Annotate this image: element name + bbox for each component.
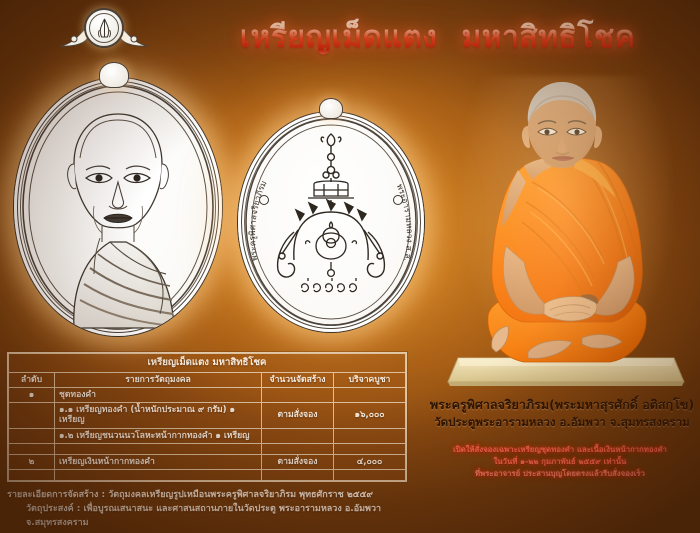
praying-hands-icon [96, 18, 113, 39]
table-row [9, 444, 406, 455]
svg-text:พระครูพิศาลจริยาภิรม วัดประตู: พระครูพิศาลจริยาภิรม วัดประตู [238, 112, 269, 262]
footer-details: รายละเอียดการจัดสร้าง : วัตถุมงคลเหรียญร… [0, 489, 430, 531]
cell-price: ๑๖,๐๐๐ [334, 403, 406, 429]
amulet-poster: เหรียญเม็ดแตงมหาสิทธิโชค [0, 0, 700, 533]
cell-qty: ตามสั่งจอง [262, 403, 334, 429]
header-item: รายการวัตถุมงคล [55, 372, 262, 387]
monk-name: พระครูพิศาลจริยาภิรม(พระมหาสุรศักดิ์ อติ… [424, 396, 700, 414]
cell-item: ๑.๑ เหรียญทองคำ (น้ำหนักประมาณ ๙ กรัม) ๑… [55, 403, 262, 429]
cell-item: ชุดทองคำ [55, 387, 262, 402]
monk-temple: วัดประตูพระอารามหลวง อ.อัมพวา จ.สุมทรสงค… [424, 414, 700, 430]
table-title-row: เหรียญเม็ดแตง มหาสิทธิโชค [9, 354, 406, 373]
table-row: ๑ ชุดทองคำ [9, 387, 406, 402]
coin-back-loop [319, 98, 343, 119]
amulet-price-table: เหรียญเม็ดแตง มหาสิทธิโชค ลำดับ รายการวั… [8, 353, 406, 481]
cell-price [334, 470, 406, 481]
cell-qty [262, 444, 334, 455]
notice-line-1: เปิดให้สั่งจองเฉพาะเหรียญชุดทองคำ และเนื… [420, 444, 700, 456]
coin-back: พระครูพิศาลจริยาภิรม วัดประตู พระอารามหล… [238, 112, 424, 332]
coin-front-loop [99, 62, 129, 88]
monk-name-block: พระครูพิศาลจริยาภิรม(พระมหาสุรศักดิ์ อติ… [424, 396, 700, 430]
monk-photo [432, 70, 700, 392]
cell-no [9, 428, 55, 443]
notice-line-3: ที่พระอาจารย์ ประสานบุญโดยตรงแล้วรีบสั่ง… [420, 468, 700, 480]
cell-price [334, 387, 406, 402]
price-table: เหรียญเม็ดแตง มหาสิทธิโชค ลำดับ รายการวั… [7, 352, 407, 482]
header-qty: จำนวนจัดสร้าง [262, 372, 334, 387]
cell-qty [262, 387, 334, 402]
cell-no [9, 444, 55, 455]
table-row [9, 470, 406, 481]
cell-no: ๑ [9, 387, 55, 402]
table-row: ๑.๑ เหรียญทองคำ (น้ำหนักประมาณ ๙ กรัม) ๑… [9, 403, 406, 429]
cell-price [334, 444, 406, 455]
order-notice: เปิดให้สั่งจองเฉพาะเหรียญชุดทองคำ และเนื… [420, 444, 700, 479]
table-header-row: ลำดับ รายการวัตถุมงคล จำนวนจัดสร้าง บริจ… [9, 372, 406, 387]
coin-front-portrait-drawing [14, 78, 222, 336]
table-title: เหรียญเม็ดแตง มหาสิทธิโชค [9, 354, 406, 373]
cell-item [55, 444, 262, 455]
coin-front [14, 78, 222, 336]
title-part2: มหาสิทธิโชค [461, 20, 635, 55]
table-row: ๒ เหรียญเงินหน้ากากทองคำ ตามสั่งจอง ๔,๐๐… [9, 455, 406, 470]
cell-item [55, 470, 262, 481]
footer-line-2: วัตถุประสงค์ : เพื่อบูรณเสนาสนะ และศาสนส… [0, 503, 430, 531]
cell-no [9, 470, 55, 481]
cell-no: ๒ [9, 455, 55, 470]
poster-title: เหรียญเม็ดแตงมหาสิทธิโชค [185, 14, 690, 61]
cell-item: เหรียญเงินหน้ากากทองคำ [55, 455, 262, 470]
header-no: ลำดับ [9, 372, 55, 387]
cell-price [334, 428, 406, 443]
coin-back-yantra-drawing: พระครูพิศาลจริยาภิรม วัดประตู พระอารามหล… [238, 112, 424, 332]
footer-line-1: รายละเอียดการจัดสร้าง : วัตถุมงคลเหรียญร… [0, 489, 430, 503]
cell-no [9, 403, 55, 429]
cell-price: ๔,๐๐๐ [334, 455, 406, 470]
header-price: บริจาคบูชา [334, 372, 406, 387]
monk-photo-glow [460, 76, 672, 376]
cell-qty [262, 428, 334, 443]
temple-crest [84, 8, 124, 48]
cell-qty: ตามสั่งจอง [262, 455, 334, 470]
cell-item: ๑.๒ เหรียญชนวนนวโลหะหน้ากากทองคำ ๑ เหรีย… [55, 428, 262, 443]
notice-line-2: ในวันที่ ๑-๒๒ กุมภาพันธ์ ๒๕๕๙ เท่านั้น [420, 456, 700, 468]
table-row: ๑.๒ เหรียญชนวนนวโลหะหน้ากากทองคำ ๑ เหรีย… [9, 428, 406, 443]
cell-qty [262, 470, 334, 481]
title-part1: เหรียญเม็ดแตง [240, 20, 438, 55]
crest-inner-ring [89, 13, 119, 43]
